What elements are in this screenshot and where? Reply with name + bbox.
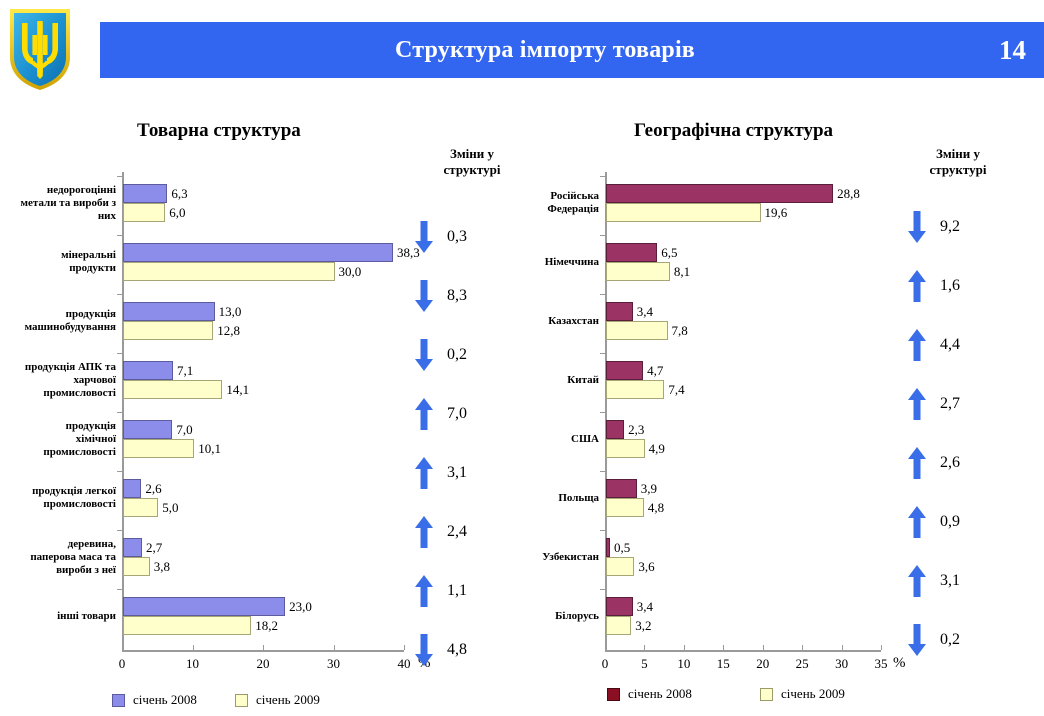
legend-swatch-2008 bbox=[112, 694, 125, 707]
change-value: 2,7 bbox=[940, 395, 960, 413]
change-value: 2,4 bbox=[447, 523, 467, 541]
bar-value-label: 6,0 bbox=[169, 205, 185, 221]
change-value: 4,4 bbox=[940, 336, 960, 354]
arrow-down-icon bbox=[906, 210, 928, 244]
change-value: 0,2 bbox=[940, 631, 960, 649]
bar-value-label: 7,4 bbox=[668, 382, 684, 398]
category-tick bbox=[600, 235, 605, 236]
bar-value-label: 28,8 bbox=[837, 186, 860, 202]
bar-січень-2008 bbox=[606, 479, 637, 498]
value-tick bbox=[802, 645, 803, 650]
commodity-structure-title: Товарна структура bbox=[137, 120, 301, 142]
bar-value-label: 6,3 bbox=[171, 186, 187, 202]
bar-value-label: 3,8 bbox=[154, 559, 170, 575]
arrow-up-icon bbox=[413, 397, 435, 431]
category-tick bbox=[600, 294, 605, 295]
delta-header-right: Зміни у структурі bbox=[898, 146, 1018, 178]
bar-value-label: 30,0 bbox=[339, 264, 362, 280]
bar-value-label: 18,2 bbox=[255, 618, 278, 634]
bar-січень-2008 bbox=[123, 184, 167, 203]
change-value: 4,8 bbox=[447, 641, 467, 659]
bar-січень-2009 bbox=[606, 262, 670, 281]
category-axis-line bbox=[605, 650, 881, 652]
legend-label-2008: січень 2008 bbox=[628, 686, 692, 702]
bar-січень-2009 bbox=[123, 321, 213, 340]
bar-value-label: 2,6 bbox=[145, 481, 161, 497]
bar-січень-2008 bbox=[606, 538, 610, 557]
bar-value-label: 4,9 bbox=[649, 441, 665, 457]
change-value: 0,9 bbox=[940, 513, 960, 531]
category-label: недорогоцінніметали та вироби зних bbox=[0, 184, 116, 223]
change-value: 2,6 bbox=[940, 454, 960, 472]
arrow-up-icon bbox=[906, 505, 928, 539]
bar-value-label: 3,9 bbox=[641, 481, 657, 497]
legend-right-2008: січень 2008 bbox=[607, 686, 692, 702]
legend-left-2008: січень 2008 bbox=[112, 692, 197, 708]
category-tick bbox=[117, 471, 122, 472]
bar-value-label: 0,5 bbox=[614, 540, 630, 556]
arrow-down-icon bbox=[413, 338, 435, 372]
category-tick bbox=[600, 412, 605, 413]
value-tick bbox=[122, 645, 123, 650]
legend-swatch-2009 bbox=[760, 688, 773, 701]
bar-січень-2009 bbox=[123, 557, 150, 576]
category-tick bbox=[117, 412, 122, 413]
change-row: 0,9 bbox=[898, 499, 1028, 557]
bar-січень-2009 bbox=[123, 616, 251, 635]
category-tick bbox=[117, 353, 122, 354]
value-tick bbox=[881, 645, 882, 650]
page-number: 14 bbox=[999, 22, 1026, 78]
bar-січень-2008 bbox=[123, 479, 141, 498]
change-row: 4,4 bbox=[898, 322, 1028, 380]
bar-value-label: 7,0 bbox=[176, 422, 192, 438]
bar-січень-2009 bbox=[606, 203, 761, 222]
geographic-structure-title: Географічна структура bbox=[634, 120, 833, 142]
bar-січень-2008 bbox=[606, 184, 833, 203]
delta-header-line2: структурі bbox=[898, 162, 1018, 178]
bar-value-label: 12,8 bbox=[217, 323, 240, 339]
legend-label-2008: січень 2008 bbox=[133, 692, 197, 708]
bar-січень-2009 bbox=[606, 321, 668, 340]
category-tick bbox=[600, 471, 605, 472]
change-row: 0,2 bbox=[898, 617, 1028, 675]
change-row: 9,2 bbox=[898, 204, 1028, 262]
value-tick bbox=[644, 645, 645, 650]
commodity-structure-chart: недорогоцінніметали та вироби зних6,36,0… bbox=[0, 172, 410, 662]
value-tick-label: 30 bbox=[822, 656, 862, 672]
category-label: продукціяхімічноїпромисловості bbox=[0, 420, 116, 459]
change-value: 0,2 bbox=[447, 346, 467, 364]
change-row: 2,6 bbox=[898, 440, 1028, 498]
value-tick-label: 20 bbox=[743, 656, 783, 672]
category-tick bbox=[600, 589, 605, 590]
legend-label-2009: січень 2009 bbox=[781, 686, 845, 702]
bar-січень-2009 bbox=[606, 439, 645, 458]
value-tick-label: 20 bbox=[243, 656, 283, 672]
bar-січень-2008 bbox=[606, 361, 643, 380]
category-label: продукціямашинобудування bbox=[0, 308, 116, 334]
category-tick bbox=[600, 353, 605, 354]
arrow-down-icon bbox=[413, 633, 435, 667]
value-tick bbox=[605, 645, 606, 650]
value-tick-label: 10 bbox=[664, 656, 704, 672]
value-tick bbox=[193, 645, 194, 650]
arrow-up-icon bbox=[906, 269, 928, 303]
bar-value-label: 3,2 bbox=[635, 618, 651, 634]
bar-січень-2009 bbox=[606, 498, 644, 517]
legend-swatch-2009 bbox=[235, 694, 248, 707]
ukraine-coat-of-arms-icon bbox=[6, 5, 74, 93]
category-label: мінеральніпродукти bbox=[0, 249, 116, 275]
bar-value-label: 3,4 bbox=[637, 304, 653, 320]
category-label: інші товари bbox=[0, 610, 116, 623]
bar-value-label: 8,1 bbox=[674, 264, 690, 280]
change-value: 1,6 bbox=[940, 277, 960, 295]
bar-value-label: 10,1 bbox=[198, 441, 221, 457]
arrow-down-icon bbox=[413, 220, 435, 254]
bar-value-label: 4,8 bbox=[648, 500, 664, 516]
bar-січень-2008 bbox=[606, 597, 633, 616]
bar-value-label: 13,0 bbox=[219, 304, 242, 320]
value-tick bbox=[684, 645, 685, 650]
category-tick bbox=[117, 589, 122, 590]
change-row: 3,1 bbox=[898, 558, 1028, 616]
category-label: продукція легкоїпромисловості bbox=[0, 485, 116, 511]
value-tick-label: 5 bbox=[624, 656, 664, 672]
arrow-down-icon bbox=[906, 623, 928, 657]
slide-header: Структура імпорту товарів 14 bbox=[0, 0, 1044, 100]
delta-header-line1: Зміни у bbox=[412, 146, 532, 162]
bar-січень-2008 bbox=[123, 361, 173, 380]
change-row: 8,3 bbox=[405, 273, 535, 331]
category-tick bbox=[117, 176, 122, 177]
bar-січень-2009 bbox=[606, 380, 664, 399]
bar-січень-2009 bbox=[606, 557, 634, 576]
change-value: 0,3 bbox=[447, 228, 467, 246]
bar-січень-2009 bbox=[123, 439, 194, 458]
delta-header-line2: структурі bbox=[412, 162, 532, 178]
category-tick bbox=[117, 235, 122, 236]
category-label: деревина,паперова маса тавироби з неї bbox=[0, 538, 116, 577]
value-tick bbox=[763, 645, 764, 650]
bar-value-label: 2,3 bbox=[628, 422, 644, 438]
arrow-up-icon bbox=[413, 574, 435, 608]
change-row: 7,0 bbox=[405, 391, 535, 449]
bar-value-label: 19,6 bbox=[765, 205, 788, 221]
bar-value-label: 5,0 bbox=[162, 500, 178, 516]
value-tick-label: 0 bbox=[102, 656, 142, 672]
bar-січень-2008 bbox=[123, 597, 285, 616]
title-bar: Структура імпорту товарів 14 bbox=[100, 22, 1044, 78]
value-tick-label: 0 bbox=[585, 656, 625, 672]
arrow-up-icon bbox=[906, 564, 928, 598]
arrow-up-icon bbox=[413, 456, 435, 490]
page-title: Структура імпорту товарів bbox=[100, 22, 990, 78]
bar-value-label: 4,7 bbox=[647, 363, 663, 379]
value-tick bbox=[263, 645, 264, 650]
change-value: 8,3 bbox=[447, 287, 467, 305]
legend-label-2009: січень 2009 bbox=[256, 692, 320, 708]
bar-value-label: 3,6 bbox=[638, 559, 654, 575]
bar-січень-2008 bbox=[123, 302, 215, 321]
category-tick bbox=[600, 530, 605, 531]
bar-січень-2008 bbox=[123, 243, 393, 262]
value-tick-label: 10 bbox=[173, 656, 213, 672]
arrow-up-icon bbox=[413, 515, 435, 549]
bar-січень-2009 bbox=[123, 380, 222, 399]
bar-січень-2009 bbox=[123, 498, 158, 517]
delta-header-line1: Зміни у bbox=[898, 146, 1018, 162]
category-label: РосійськаФедерація bbox=[519, 190, 599, 216]
bar-січень-2008 bbox=[123, 420, 172, 439]
change-value: 9,2 bbox=[940, 218, 960, 236]
value-tick bbox=[723, 645, 724, 650]
change-row: 2,7 bbox=[898, 381, 1028, 439]
bar-value-label: 3,4 bbox=[637, 599, 653, 615]
legend-left-2009: січень 2009 bbox=[235, 692, 320, 708]
bar-value-label: 6,5 bbox=[661, 245, 677, 261]
bar-січень-2009 bbox=[606, 616, 631, 635]
bar-січень-2008 bbox=[606, 243, 657, 262]
value-tick-label: 25 bbox=[782, 656, 822, 672]
change-value: 3,1 bbox=[940, 572, 960, 590]
bar-value-label: 23,0 bbox=[289, 599, 312, 615]
value-tick bbox=[842, 645, 843, 650]
change-value: 1,1 bbox=[447, 582, 467, 600]
legend-right-2009: січень 2009 bbox=[760, 686, 845, 702]
change-row: 0,2 bbox=[405, 332, 535, 390]
value-tick-label: 30 bbox=[314, 656, 354, 672]
bar-січень-2008 bbox=[123, 538, 142, 557]
bar-value-label: 7,8 bbox=[672, 323, 688, 339]
change-row: 2,4 bbox=[405, 509, 535, 567]
category-axis-line bbox=[122, 650, 404, 652]
change-row: 3,1 bbox=[405, 450, 535, 508]
bar-січень-2009 bbox=[123, 203, 165, 222]
bar-січень-2008 bbox=[606, 302, 633, 321]
change-row: 1,1 bbox=[405, 568, 535, 626]
bar-value-label: 7,1 bbox=[177, 363, 193, 379]
bar-value-label: 2,7 bbox=[146, 540, 162, 556]
bar-січень-2009 bbox=[123, 262, 335, 281]
bar-січень-2008 bbox=[606, 420, 624, 439]
arrow-down-icon bbox=[413, 279, 435, 313]
value-tick-label: 15 bbox=[703, 656, 743, 672]
legend-swatch-2008 bbox=[607, 688, 620, 701]
category-tick bbox=[600, 176, 605, 177]
category-tick bbox=[117, 294, 122, 295]
change-value: 7,0 bbox=[447, 405, 467, 423]
geographic-structure-chart: РосійськаФедерація28,819,6Німеччина6,58,… bbox=[520, 172, 910, 662]
category-tick bbox=[117, 530, 122, 531]
delta-header-left: Зміни у структурі bbox=[412, 146, 532, 178]
change-row: 4,8 bbox=[405, 627, 535, 685]
change-value: 3,1 bbox=[447, 464, 467, 482]
arrow-up-icon bbox=[906, 446, 928, 480]
arrow-up-icon bbox=[906, 328, 928, 362]
category-label: продукція АПК тахарчовоїпромисловості bbox=[0, 361, 116, 400]
change-row: 0,3 bbox=[405, 214, 535, 272]
arrow-up-icon bbox=[906, 387, 928, 421]
bar-value-label: 14,1 bbox=[226, 382, 249, 398]
change-row: 1,6 bbox=[898, 263, 1028, 321]
value-tick bbox=[334, 645, 335, 650]
